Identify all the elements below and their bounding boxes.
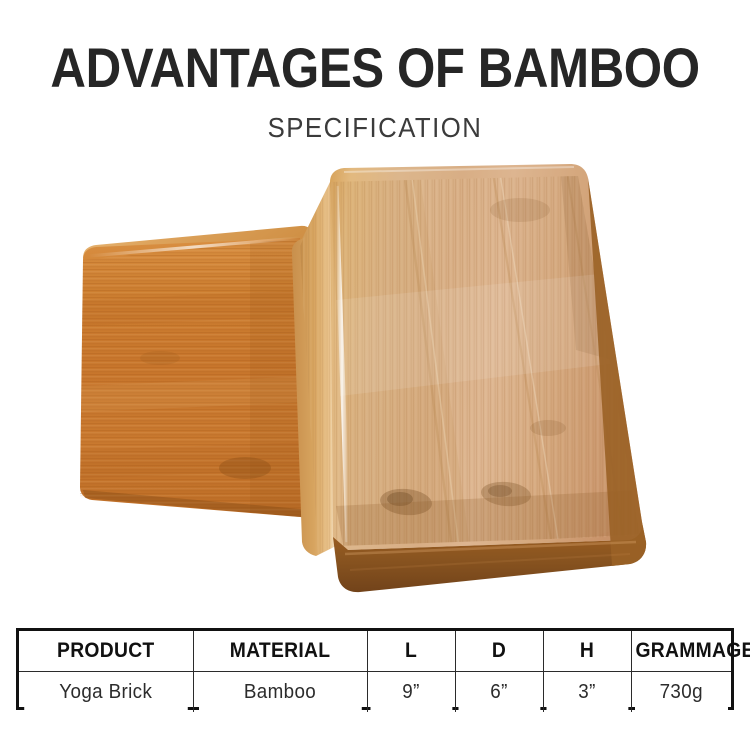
table-row: Yoga Brick Bamboo 9” 6” 3” 730g <box>19 672 731 713</box>
table-header-row: PRODUCT MATERIAL L D H GRAMMAGE <box>19 631 731 672</box>
product-photo <box>0 150 750 610</box>
cell-depth: 6” <box>458 672 541 713</box>
product-spec-page: ADVANTAGES OF BAMBOO SPECIFICATION <box>0 0 750 750</box>
column-header-depth: D <box>459 631 540 672</box>
page-subtitle: SPECIFICATION <box>30 112 720 144</box>
column-header-product: PRODUCT <box>26 631 186 672</box>
cell-material: Bamboo <box>198 672 362 713</box>
bamboo-blocks-illustration <box>0 150 750 610</box>
column-header-height: H <box>547 631 628 672</box>
cell-height: 3” <box>546 672 629 713</box>
column-header-material: MATERIAL <box>200 631 360 672</box>
cell-product: Yoga Brick <box>24 672 188 713</box>
specification-table: PRODUCT MATERIAL L D H GRAMMAGE Yoga Bri… <box>16 628 734 710</box>
column-header-length: L <box>371 631 452 672</box>
rear-bamboo-block <box>70 226 330 530</box>
page-title: ADVANTAGES OF BAMBOO <box>45 38 705 98</box>
cell-length: 9” <box>370 672 453 713</box>
cell-grammage: 730g <box>634 672 728 713</box>
column-header-grammage: GRAMMAGE <box>635 631 727 672</box>
